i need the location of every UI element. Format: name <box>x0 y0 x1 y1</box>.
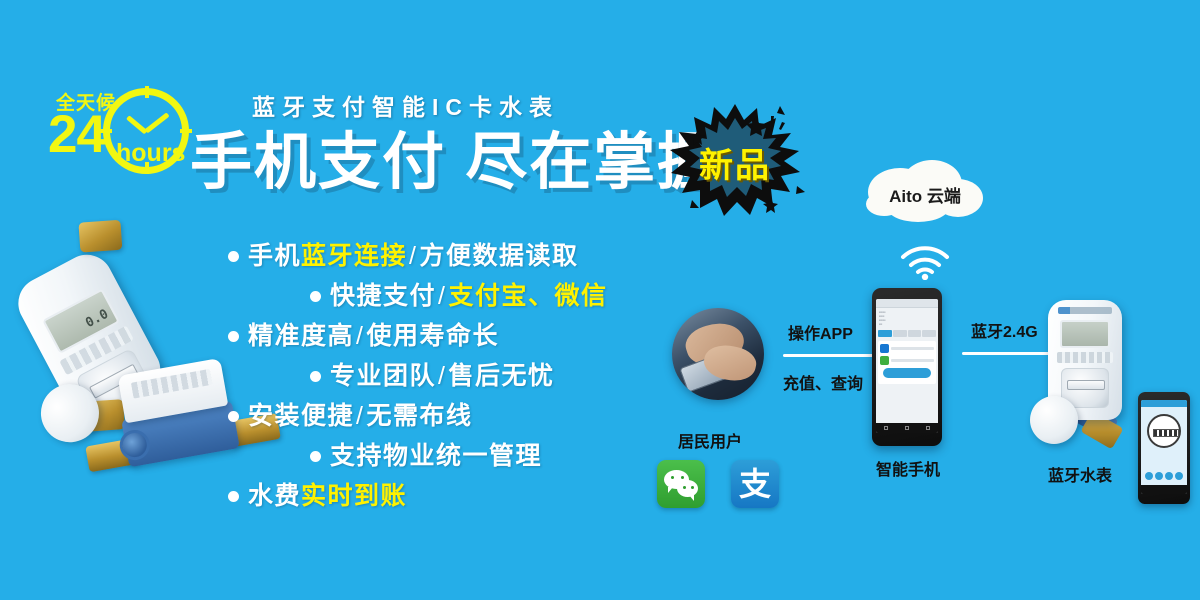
feature-text-highlight: 支付宝、微信 <box>448 276 607 316</box>
app-title-bar <box>1141 400 1187 407</box>
app-action-icon[interactable] <box>1165 472 1173 480</box>
app-tab-active[interactable] <box>878 330 892 337</box>
meter-lcd-screen <box>1060 320 1110 348</box>
app-tab-row[interactable] <box>876 328 938 339</box>
feature-item: 专业团队 / 售后无忧 <box>228 356 698 396</box>
feature-text-plain: 快捷支付 <box>330 276 436 316</box>
caption-bluetooth-meter: 蓝牙水表 <box>1048 462 1112 486</box>
nav-home-icon[interactable] <box>905 426 909 430</box>
feature-text-plain: 无需布线 <box>366 396 472 436</box>
payment-brand-icons: 支 <box>657 460 779 508</box>
feature-text-plain: 水费 <box>248 476 301 516</box>
meter-gauge-widget <box>1147 414 1181 448</box>
feature-item: 支持物业统一管理 <box>228 436 698 476</box>
bluetooth-water-meter-photo <box>1030 300 1150 460</box>
feature-item: 手机 蓝牙连接 / 方便数据读取 <box>228 236 698 276</box>
nav-back-icon[interactable] <box>884 426 888 430</box>
feature-text-plain: 方便数据读取 <box>419 236 578 276</box>
app-tab[interactable] <box>908 330 922 337</box>
app-action-icons[interactable] <box>1144 472 1184 480</box>
feature-item: 精准度高 / 使用寿命长 <box>228 316 698 356</box>
app-action-icon[interactable] <box>1145 472 1153 480</box>
meter-keypad <box>1057 352 1113 363</box>
alipay-icon <box>880 344 889 353</box>
bullet-icon <box>228 331 239 342</box>
link-label-recharge-query: 充值、查询 <box>783 370 863 394</box>
app-tab[interactable] <box>893 330 907 337</box>
phone-screen <box>1141 400 1187 494</box>
bullet-icon <box>228 251 239 262</box>
feature-item: 水费 实时到账 <box>228 476 698 516</box>
app-wechat-option[interactable] <box>880 356 934 365</box>
wifi-icon <box>898 244 952 280</box>
feature-separator: / <box>354 316 366 356</box>
feature-separator: / <box>436 276 448 316</box>
feature-list: 手机 蓝牙连接 / 方便数据读取 快捷支付 / 支付宝、微信 精准度高 / 使用… <box>228 236 698 516</box>
feature-text-plain: 安装便捷 <box>248 396 354 436</box>
feature-item: 安装便捷 / 无需布线 <box>228 396 698 436</box>
feature-separator: / <box>436 356 448 396</box>
feature-text-plain: 售后无忧 <box>448 356 554 396</box>
app-alipay-option[interactable] <box>880 344 934 353</box>
connector-line-user-to-phone <box>783 354 886 357</box>
cloud-label: Aito 云端 <box>860 182 990 207</box>
app-device-info: ▪▪▪▪▪▪▪▪▪▪▪▪▪▪▪▪▪▪▪▪ <box>876 308 938 328</box>
all-day-24hours-badge: 全天候 24 hours <box>48 86 193 178</box>
feature-text-highlight: 蓝牙连接 <box>301 236 407 276</box>
app-tab[interactable] <box>922 330 936 337</box>
banner-subtitle: 蓝牙支付智能IC卡水表 <box>252 88 710 122</box>
feature-text-plain: 支持物业统一管理 <box>330 436 542 476</box>
android-nav-bar[interactable] <box>876 423 938 433</box>
alipay-glyph: 支 <box>731 460 779 508</box>
app-payment-card <box>878 341 936 384</box>
meter-brass-fitting <box>78 220 122 253</box>
bullet-icon <box>228 411 239 422</box>
headline-block: 蓝牙支付智能IC卡水表 手机支付 尽在掌握 <box>190 88 710 198</box>
phone-screen: ▪▪▪▪▪▪▪▪▪▪▪▪▪▪▪▪▪▪▪▪ <box>876 299 938 433</box>
app-header-bar <box>876 299 938 308</box>
feature-item: 快捷支付 / 支付宝、微信 <box>228 276 698 316</box>
bullet-icon <box>310 371 321 382</box>
app-action-icon[interactable] <box>1175 472 1183 480</box>
feature-text-plain: 使用寿命长 <box>366 316 499 356</box>
caption-smartphone: 智能手机 <box>876 456 940 480</box>
cloud-node: Aito 云端 <box>860 158 990 228</box>
wechat-pay-icon <box>880 356 889 365</box>
new-product-label: 新品 <box>660 138 810 187</box>
bullet-icon <box>310 291 321 302</box>
feature-text-plain: 精准度高 <box>248 316 354 356</box>
feature-separator: / <box>407 236 419 276</box>
bullet-icon <box>228 491 239 502</box>
bullet-icon <box>310 451 321 462</box>
left-product-photos: 0.0 <box>14 232 254 512</box>
alipay-icon[interactable]: 支 <box>731 460 779 508</box>
clock-tick-top <box>145 86 149 98</box>
banner-title: 手机支付 尽在掌握 <box>190 128 710 198</box>
meter-register-window <box>1067 380 1105 390</box>
link-label-operate-app: 操作APP <box>788 320 853 344</box>
smartphone-device: ▪▪▪▪▪▪▪▪▪▪▪▪▪▪▪▪▪▪▪▪ <box>872 288 942 446</box>
badge-hours-label: hours <box>116 141 185 166</box>
resident-user-photo <box>672 308 764 400</box>
promo-banner: 全天候 24 hours 蓝牙支付智能IC卡水表 手机支付 尽在掌握 <box>0 0 1200 600</box>
meter-reading-app-phone <box>1138 392 1190 504</box>
meter-lcd-value: 0.0 <box>83 307 111 331</box>
link-label-bluetooth-24g: 蓝牙2.4G <box>971 318 1038 342</box>
badge-number: 24 <box>48 108 105 161</box>
wifi-dot <box>922 274 928 280</box>
wechat-pay-icon[interactable] <box>657 460 705 508</box>
meter-brand-logo <box>1058 307 1112 314</box>
app-confirm-pay-button[interactable] <box>883 368 931 378</box>
app-action-icon[interactable] <box>1155 472 1163 480</box>
android-nav-bar[interactable] <box>1141 485 1187 494</box>
feature-text-highlight: 实时到账 <box>301 476 407 516</box>
feature-text-plain: 手机 <box>248 236 301 276</box>
feature-text-plain: 专业团队 <box>330 356 436 396</box>
meter-register-digits <box>1153 429 1179 437</box>
nav-recents-icon[interactable] <box>926 426 930 430</box>
caption-resident-user: 居民用户 <box>678 428 742 452</box>
new-product-badge: 新品 <box>660 100 810 220</box>
meter-protective-cap <box>1030 396 1078 444</box>
feature-separator: / <box>354 396 366 436</box>
meter-label-strip <box>131 369 213 399</box>
